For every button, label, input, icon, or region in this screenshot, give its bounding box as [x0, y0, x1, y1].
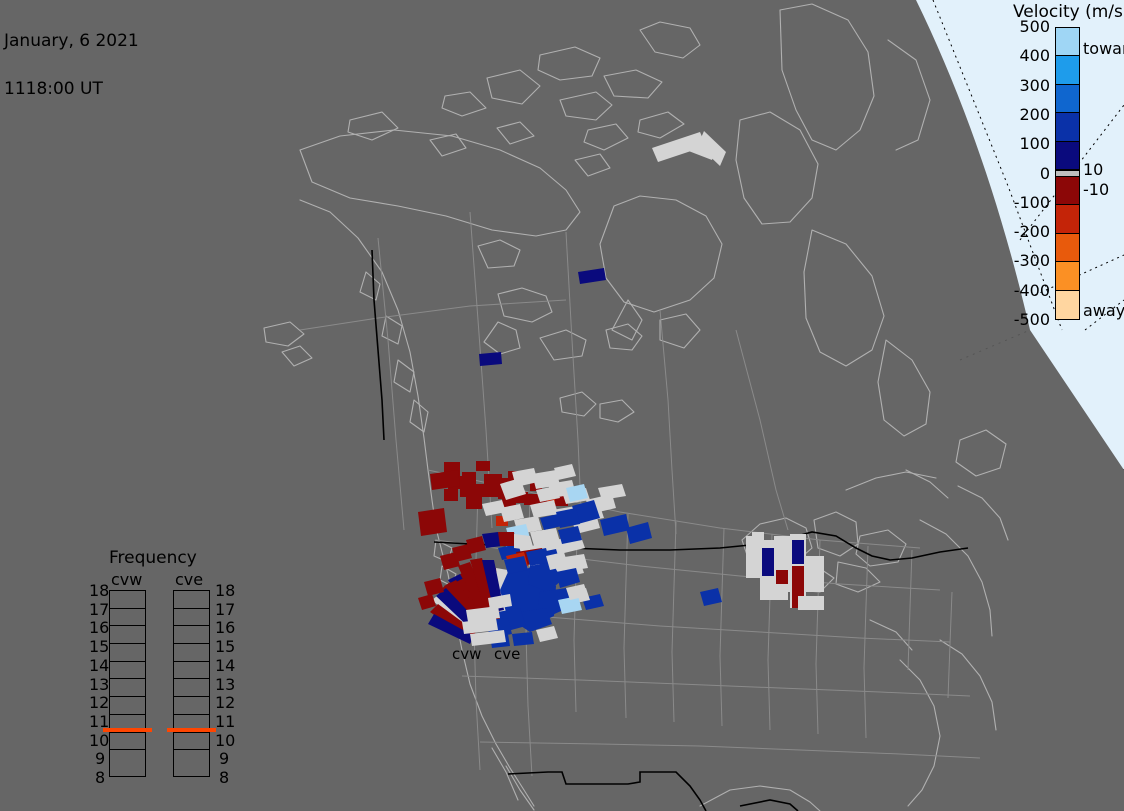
frequency-cell — [110, 679, 145, 697]
timestamp-date: January, 6 2021 — [4, 33, 139, 49]
frequency-tick-label: 18 — [215, 583, 235, 598]
frequency-column-header-cvw: cvw — [111, 570, 142, 589]
frequency-tick-label: 14 — [89, 658, 109, 673]
frequency-cell — [110, 750, 145, 769]
colorbar-tick: -400 — [1014, 283, 1050, 299]
frequency-cell — [110, 591, 145, 609]
frequency-tick-label: 17 — [215, 602, 235, 617]
colorbar-segment — [1056, 234, 1079, 262]
frequency-cell — [174, 591, 209, 609]
colorbar-tick: -100 — [1014, 195, 1050, 211]
colorbar-tick: -300 — [1014, 253, 1050, 269]
colorbar-tick: -500 — [1014, 312, 1050, 328]
frequency-cell — [174, 733, 209, 751]
frequency-tick-label: 18 — [89, 583, 109, 598]
colorbar-segment — [1056, 113, 1079, 141]
frequency-tick-label: 16 — [215, 620, 235, 635]
colorbar-segment — [1056, 56, 1079, 84]
frequency-cell — [110, 609, 145, 627]
frequency-tick-label: 12 — [215, 695, 235, 710]
colorbar-tick: -200 — [1014, 224, 1050, 240]
frequency-tick-label: 11 — [215, 714, 235, 729]
frequency-tick-label: 13 — [215, 677, 235, 692]
frequency-cell — [174, 750, 209, 769]
frequency-legend-title: Frequency — [109, 548, 197, 568]
colorbar-segment — [1056, 262, 1079, 290]
frequency-tick-label: 15 — [89, 639, 109, 654]
colorbar-segment — [1056, 205, 1079, 233]
frequency-tick-label: 9 — [95, 751, 105, 766]
colorbar-tick: 500 — [1019, 19, 1050, 35]
timestamp-time: 1118:00 UT — [4, 81, 139, 97]
frequency-tick-label: 14 — [215, 658, 235, 673]
frequency-tick-label: 11 — [89, 714, 109, 729]
radar-site-label-cvw: cvw — [452, 645, 481, 663]
colorbar-segment — [1056, 142, 1079, 170]
frequency-cell — [174, 626, 209, 644]
frequency-cell — [110, 733, 145, 751]
frequency-tick-label: 12 — [89, 695, 109, 710]
frequency-cell — [174, 644, 209, 662]
colorbar-tick-labels: 5004003002001000-100-200-300-400-500 — [1005, 0, 1053, 340]
colorbar-segment — [1056, 28, 1079, 56]
frequency-tick-label: 10 — [89, 733, 109, 748]
frequency-column-header-cve: cve — [175, 570, 203, 589]
frequency-cell — [174, 609, 209, 627]
frequency-scale-cvw — [109, 590, 146, 777]
frequency-marker-cve — [167, 728, 216, 732]
radar-site-label-cve: cve — [494, 645, 520, 663]
frequency-cell — [174, 697, 209, 715]
colorbar-toward-label: toward — [1083, 41, 1124, 57]
frequency-legend: Frequency cvw cve 18171615141312111098 1… — [95, 548, 255, 788]
colorbar-away-label: away — [1083, 303, 1124, 319]
frequency-marker-cvw — [103, 728, 152, 732]
timestamp-overlay: January, 6 2021 1118:00 UT — [4, 1, 139, 129]
colorbar-segment — [1056, 177, 1079, 205]
colorbar-tick: 0 — [1040, 166, 1050, 182]
frequency-cell — [174, 662, 209, 680]
frequency-tick-label: 8 — [219, 770, 229, 785]
frequency-tick-label: 13 — [89, 677, 109, 692]
frequency-tick-label: 16 — [89, 620, 109, 635]
frequency-tick-label: 10 — [215, 733, 235, 748]
radar-map-figure: January, 6 2021 1118:00 UT Velocity (m/s… — [0, 0, 1124, 811]
colorbar-tick: 100 — [1019, 136, 1050, 152]
colorbar-segment — [1056, 85, 1079, 113]
frequency-scale-cve — [173, 590, 210, 777]
frequency-tick-label: 17 — [89, 602, 109, 617]
colorbar-tick: 200 — [1019, 107, 1050, 123]
frequency-tick-label: 9 — [219, 751, 229, 766]
frequency-tick-label: 8 — [95, 770, 105, 785]
velocity-colorbar: Velocity (m/s) 5004003002001000-100-200-… — [1005, 0, 1124, 340]
frequency-cell — [110, 626, 145, 644]
colorbar-gradient — [1055, 27, 1080, 320]
colorbar-segment — [1056, 170, 1079, 177]
frequency-cell — [110, 697, 145, 715]
frequency-tick-label: 15 — [215, 639, 235, 654]
frequency-cell — [110, 644, 145, 662]
colorbar-inner-lower-label: -10 — [1083, 182, 1109, 198]
colorbar-tick: 300 — [1019, 78, 1050, 94]
frequency-cell — [174, 679, 209, 697]
colorbar-inner-upper-label: 10 — [1083, 162, 1103, 178]
frequency-cell — [110, 662, 145, 680]
colorbar-segment — [1056, 291, 1079, 319]
colorbar-tick: 400 — [1019, 48, 1050, 64]
